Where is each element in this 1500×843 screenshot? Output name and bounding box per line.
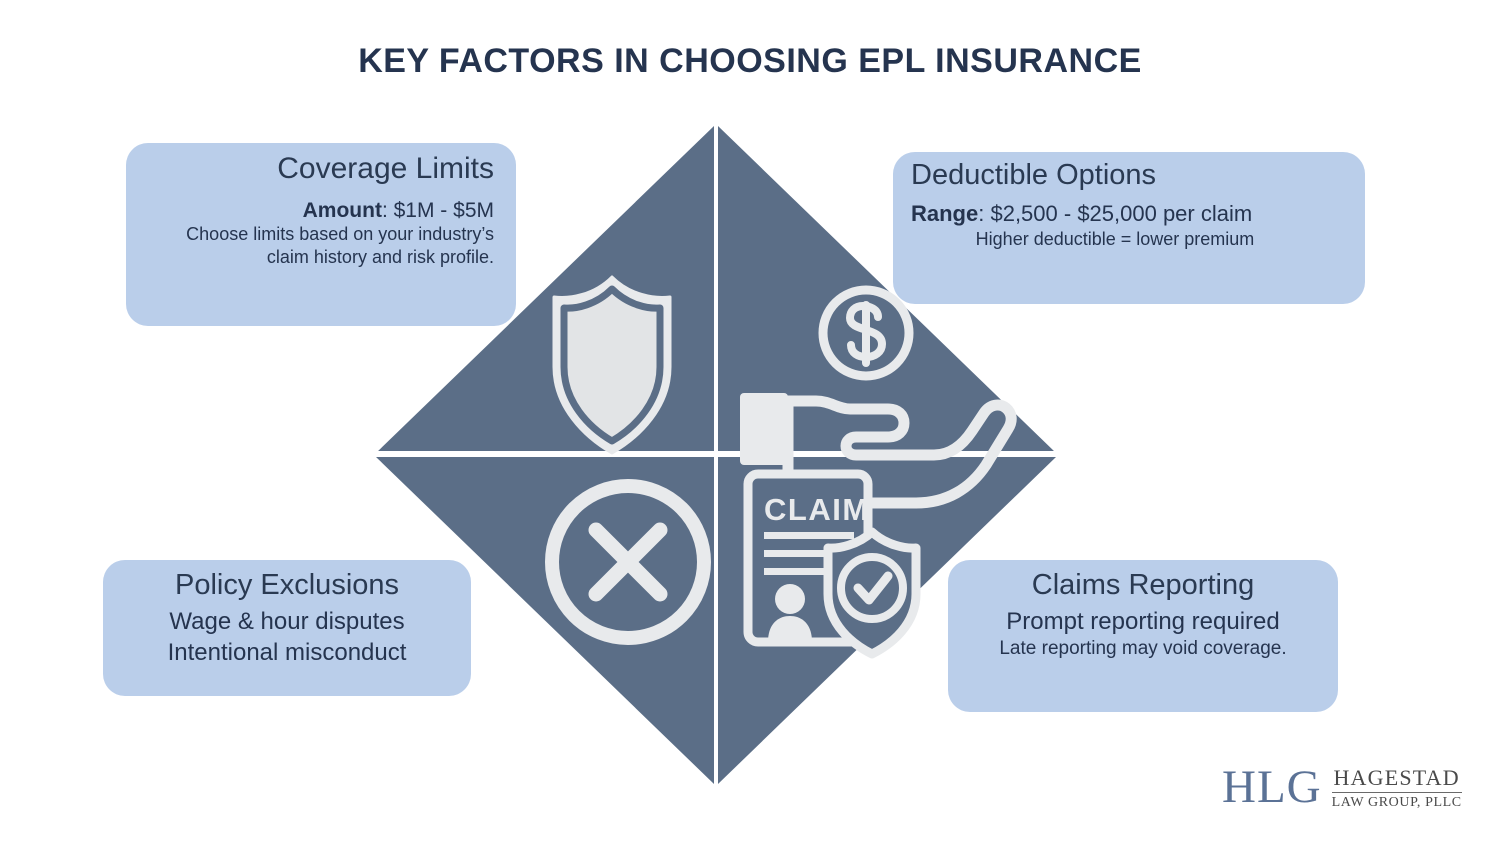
logo-wordmark: HAGESTAD LAW GROUP, PLLC xyxy=(1332,765,1462,810)
callout-coverage-title: Coverage Limits xyxy=(144,151,494,188)
callout-coverage-limits: Coverage Limits Amount: $1M - $5M Choose… xyxy=(126,143,516,326)
logo-firm-name: HAGESTAD xyxy=(1332,767,1462,793)
logo-firm-subtitle: LAW GROUP, PLLC xyxy=(1332,793,1462,810)
callout-claims-detail: Late reporting may void coverage. xyxy=(964,637,1322,661)
callout-claims-line-1: Prompt reporting required xyxy=(964,607,1322,636)
page-title: KEY FACTORS IN CHOOSING EPL INSURANCE xyxy=(0,42,1500,81)
callout-coverage-amount-value: : $1M - $5M xyxy=(382,199,494,222)
infographic-canvas: KEY FACTORS IN CHOOSING EPL INSURANCE xyxy=(0,0,1500,843)
callout-exclusions-line-1: Wage & hour disputes xyxy=(119,607,455,638)
callout-exclusions-line-2: Intentional misconduct xyxy=(119,638,455,669)
callout-deductible-range-label: Range xyxy=(911,201,978,226)
claim-label: CLAIM xyxy=(764,492,870,527)
callout-deductible-options: Deductible Options Range: $2,500 - $25,0… xyxy=(893,152,1365,304)
callout-coverage-detail: Choose limits based on your industry’s c… xyxy=(144,223,494,268)
callout-policy-exclusions: Policy Exclusions Wage & hour disputes I… xyxy=(103,560,471,696)
callout-deductible-title: Deductible Options xyxy=(911,158,1347,193)
hagestad-law-group-logo: HLG HAGESTAD LAW GROUP, PLLC xyxy=(1222,757,1482,817)
callout-exclusions-title: Policy Exclusions xyxy=(119,568,455,603)
logo-monogram: HLG xyxy=(1222,764,1322,811)
callout-coverage-amount-label: Amount xyxy=(303,199,382,222)
callout-deductible-range-value: : $2,500 - $25,000 per claim xyxy=(978,201,1252,226)
callout-claims-reporting: Claims Reporting Prompt reporting requir… xyxy=(948,560,1338,712)
callout-deductible-range: Range: $2,500 - $25,000 per claim xyxy=(911,201,1347,228)
callout-claims-title: Claims Reporting xyxy=(964,568,1322,603)
callout-deductible-detail: Higher deductible = lower premium xyxy=(911,228,1347,251)
callout-coverage-amount: Amount: $1M - $5M xyxy=(144,198,494,224)
